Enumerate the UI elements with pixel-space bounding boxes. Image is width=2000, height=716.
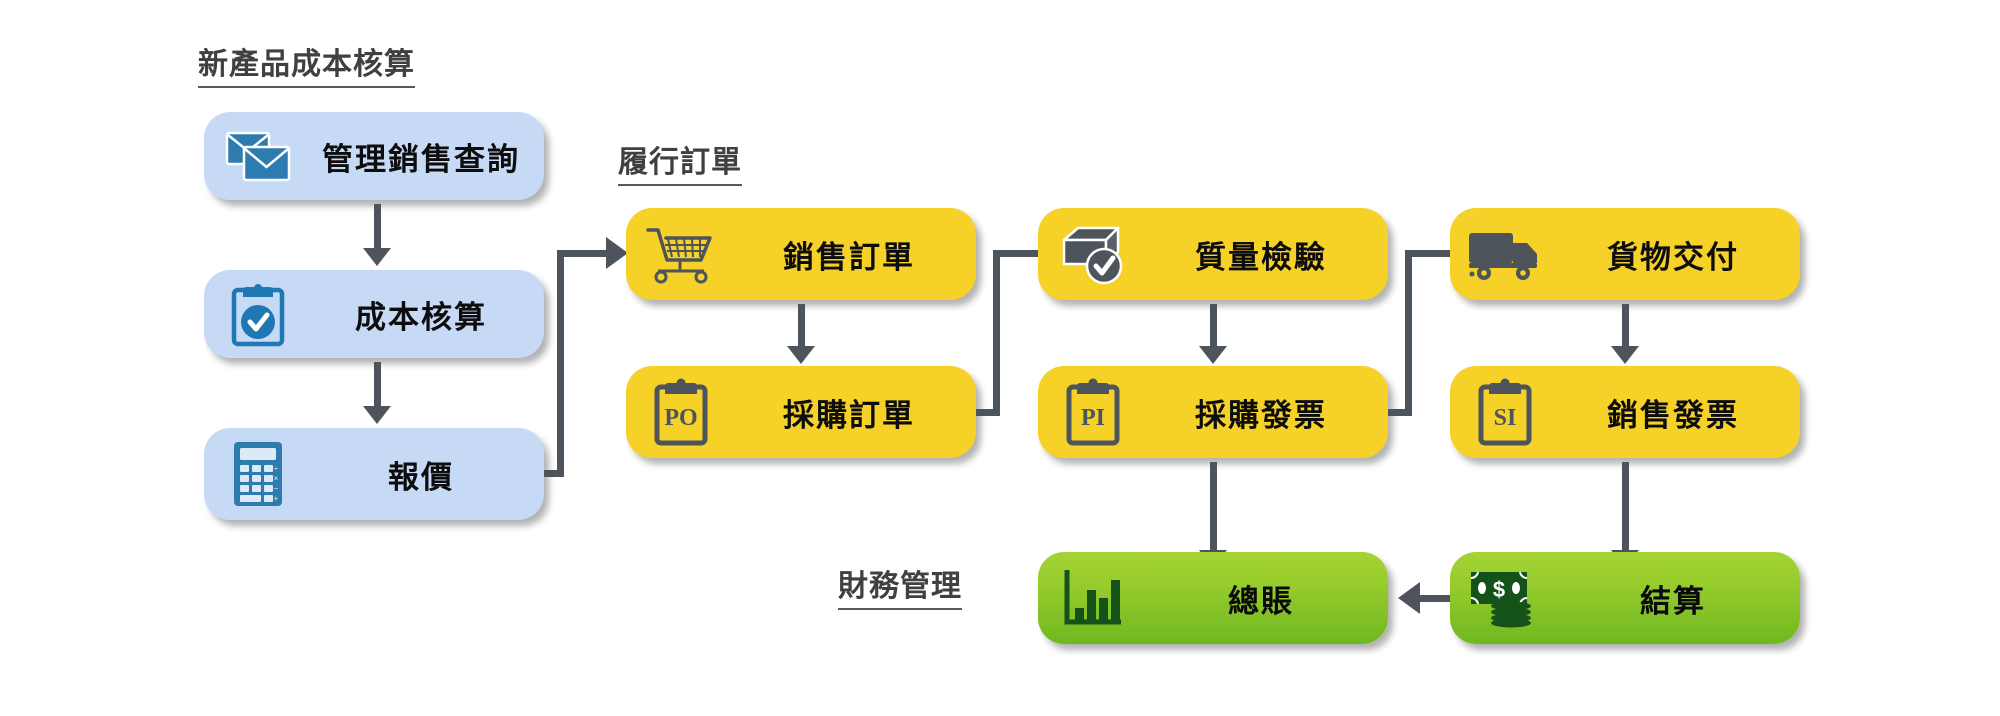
node-label: 質量檢驗: [1148, 232, 1388, 277]
node-label: 採購發票: [1148, 390, 1388, 435]
node-label: 成本核算: [312, 292, 544, 337]
node-goods-delivery[interactable]: 貨物交付: [1450, 208, 1800, 300]
clipboard-check-icon: [204, 282, 312, 346]
node-manage-sales-inquiry[interactable]: 管理銷售查詢: [204, 112, 544, 200]
connector-line: [374, 362, 381, 410]
connector-line: [1210, 304, 1217, 350]
node-cost-accounting[interactable]: 成本核算: [204, 270, 544, 358]
connector-arrow-down: [363, 406, 391, 424]
node-sales-order[interactable]: 銷售訂單: [626, 208, 976, 300]
connector-line: [1405, 250, 1412, 416]
connector-arrow-down: [787, 346, 815, 364]
node-label: 銷售發票: [1560, 390, 1800, 435]
svg-text:×: ×: [274, 474, 279, 483]
connector-line: [1210, 462, 1217, 554]
shopping-cart-icon: [626, 225, 736, 283]
node-settlement[interactable]: $ 結算: [1450, 552, 1800, 644]
truck-icon: [1450, 227, 1560, 281]
clipboard-pi-icon: PI: [1038, 378, 1148, 446]
node-label: 銷售訂單: [736, 232, 976, 277]
node-label: 管理銷售查詢: [312, 134, 544, 179]
node-label: 總賬: [1148, 576, 1388, 621]
node-sales-invoice[interactable]: SI 銷售發票: [1450, 366, 1800, 458]
calculator-icon: ÷ × − +: [204, 440, 312, 508]
connector-line: [1405, 250, 1453, 257]
svg-text:$: $: [1493, 577, 1505, 602]
connector-line: [557, 250, 609, 257]
connector-arrow-down: [363, 248, 391, 266]
svg-text:PO: PO: [664, 405, 697, 431]
svg-text:+: +: [274, 494, 279, 503]
node-purchase-invoice[interactable]: PI 採購發票: [1038, 366, 1388, 458]
clipboard-si-icon: SI: [1450, 378, 1560, 446]
node-general-ledger[interactable]: 總賬: [1038, 552, 1388, 644]
connector-line: [374, 204, 381, 252]
envelope-icon: [204, 130, 312, 182]
group-title-order-fulfillment: 履行訂單: [618, 146, 742, 186]
svg-text:÷: ÷: [274, 464, 279, 473]
money-icon: $: [1450, 566, 1560, 630]
node-label: 貨物交付: [1560, 232, 1800, 277]
connector-arrow-left: [1398, 582, 1420, 614]
node-purchase-order[interactable]: PO 採購訂單: [626, 366, 976, 458]
node-quotation[interactable]: ÷ × − + 報價: [204, 428, 544, 520]
box-check-icon: [1038, 222, 1148, 286]
connector-line: [1622, 304, 1629, 350]
connector-arrow-down: [1611, 346, 1639, 364]
connector-arrow-down: [1199, 346, 1227, 364]
connector-line: [557, 250, 564, 477]
group-title-new-product-costing: 新產品成本核算: [198, 48, 415, 88]
connector-arrow-right: [606, 237, 628, 269]
bar-chart-icon: [1038, 566, 1148, 630]
node-label: 結算: [1560, 576, 1800, 621]
node-label: 採購訂單: [736, 390, 976, 435]
group-title-financial-management: 財務管理: [838, 570, 962, 610]
connector-line: [1622, 462, 1629, 554]
connector-line: [993, 250, 1000, 416]
node-quality-inspection[interactable]: 質量檢驗: [1038, 208, 1388, 300]
connector-line: [993, 250, 1041, 257]
clipboard-po-icon: PO: [626, 378, 736, 446]
node-label: 報價: [312, 452, 544, 497]
svg-text:PI: PI: [1081, 405, 1105, 431]
svg-text:SI: SI: [1494, 405, 1517, 431]
diagram-canvas: 新產品成本核算 履行訂單 財務管理 管理銷售查詢: [0, 0, 2000, 716]
svg-text:−: −: [274, 484, 279, 493]
connector-line: [798, 304, 805, 350]
